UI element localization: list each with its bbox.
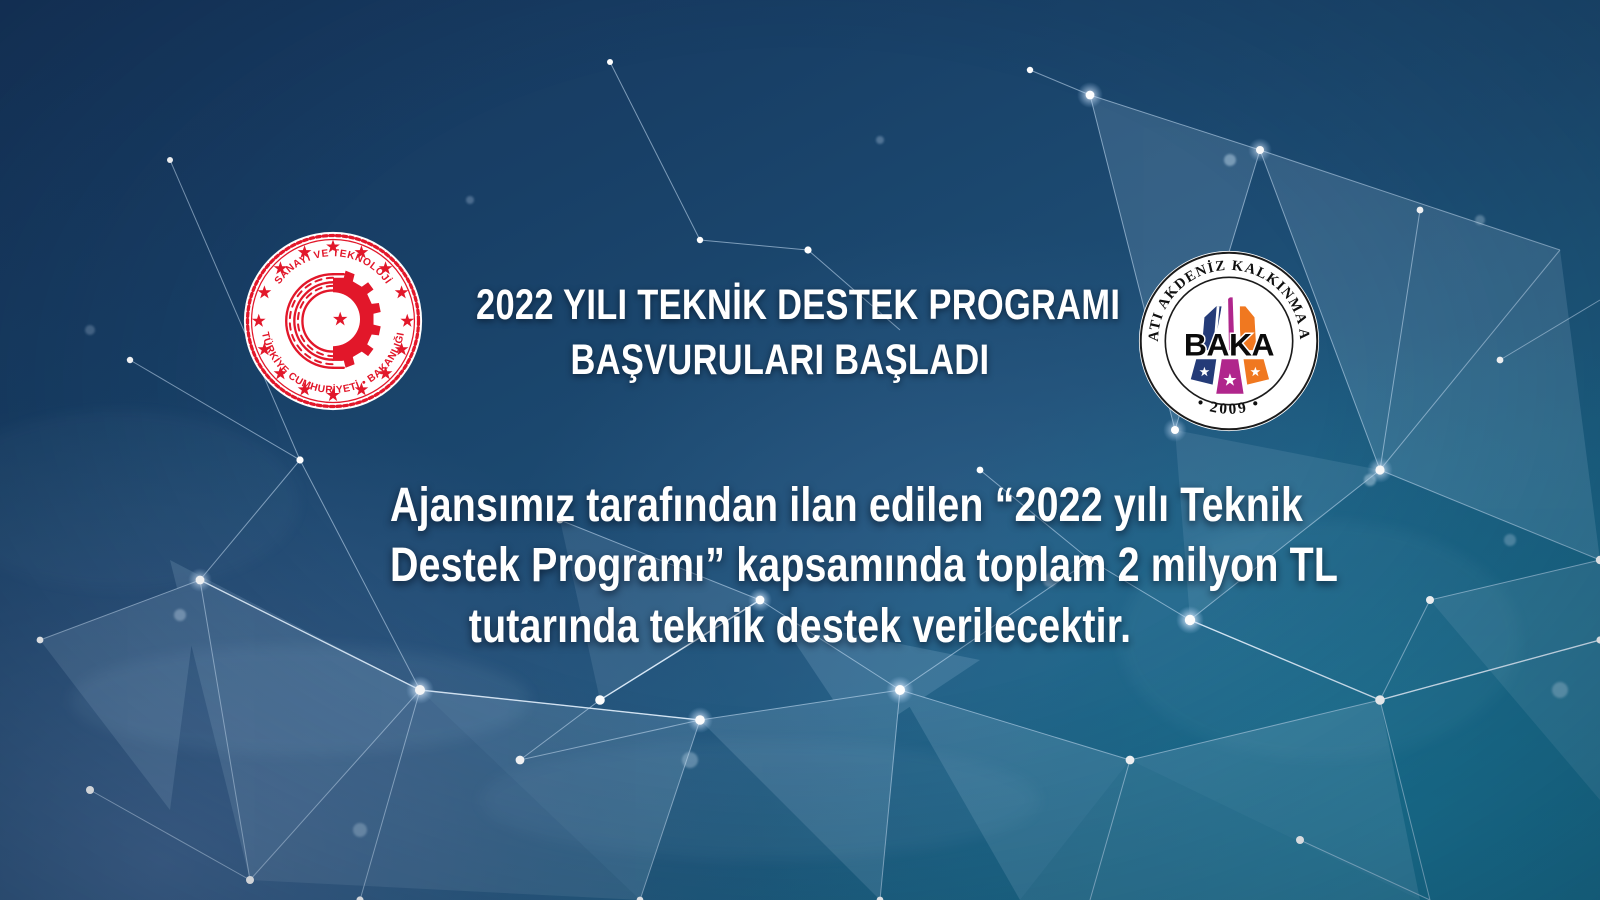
headline-line-1: 2022 YILI TEKNİK DESTEK PROGRAMI	[476, 278, 1084, 333]
headline-line-2: BAŞVURULARI BAŞLADI	[476, 333, 1084, 388]
network-mesh-background	[0, 0, 1600, 900]
svg-text:BAKA: BAKA	[1184, 327, 1275, 363]
body-copy: Ajansımız tarafından ilan edilen “2022 y…	[390, 476, 1210, 657]
body-copy-line-2: Destek Programı” kapsamında toplam 2 mil…	[390, 536, 1210, 596]
headline: 2022 YILI TEKNİK DESTEK PROGRAMI BAŞVURU…	[476, 278, 1084, 387]
body-copy-line-1: Ajansımız tarafından ilan edilen “2022 y…	[390, 476, 1210, 536]
promotional-banner: SANAYİ VE TEKNOLOJİ TÜRKİYE CUMHURİYETİ …	[0, 0, 1600, 900]
body-copy-line-3: tutarında teknik destek verilecektir.	[390, 597, 1210, 657]
baka-agency-logo-icon: T.C. BATI AKDENİZ KALKINMA AJANSI • 2009…	[1138, 250, 1320, 432]
ministry-of-industry-and-technology-seal-icon: SANAYİ VE TEKNOLOJİ TÜRKİYE CUMHURİYETİ …	[243, 231, 423, 411]
